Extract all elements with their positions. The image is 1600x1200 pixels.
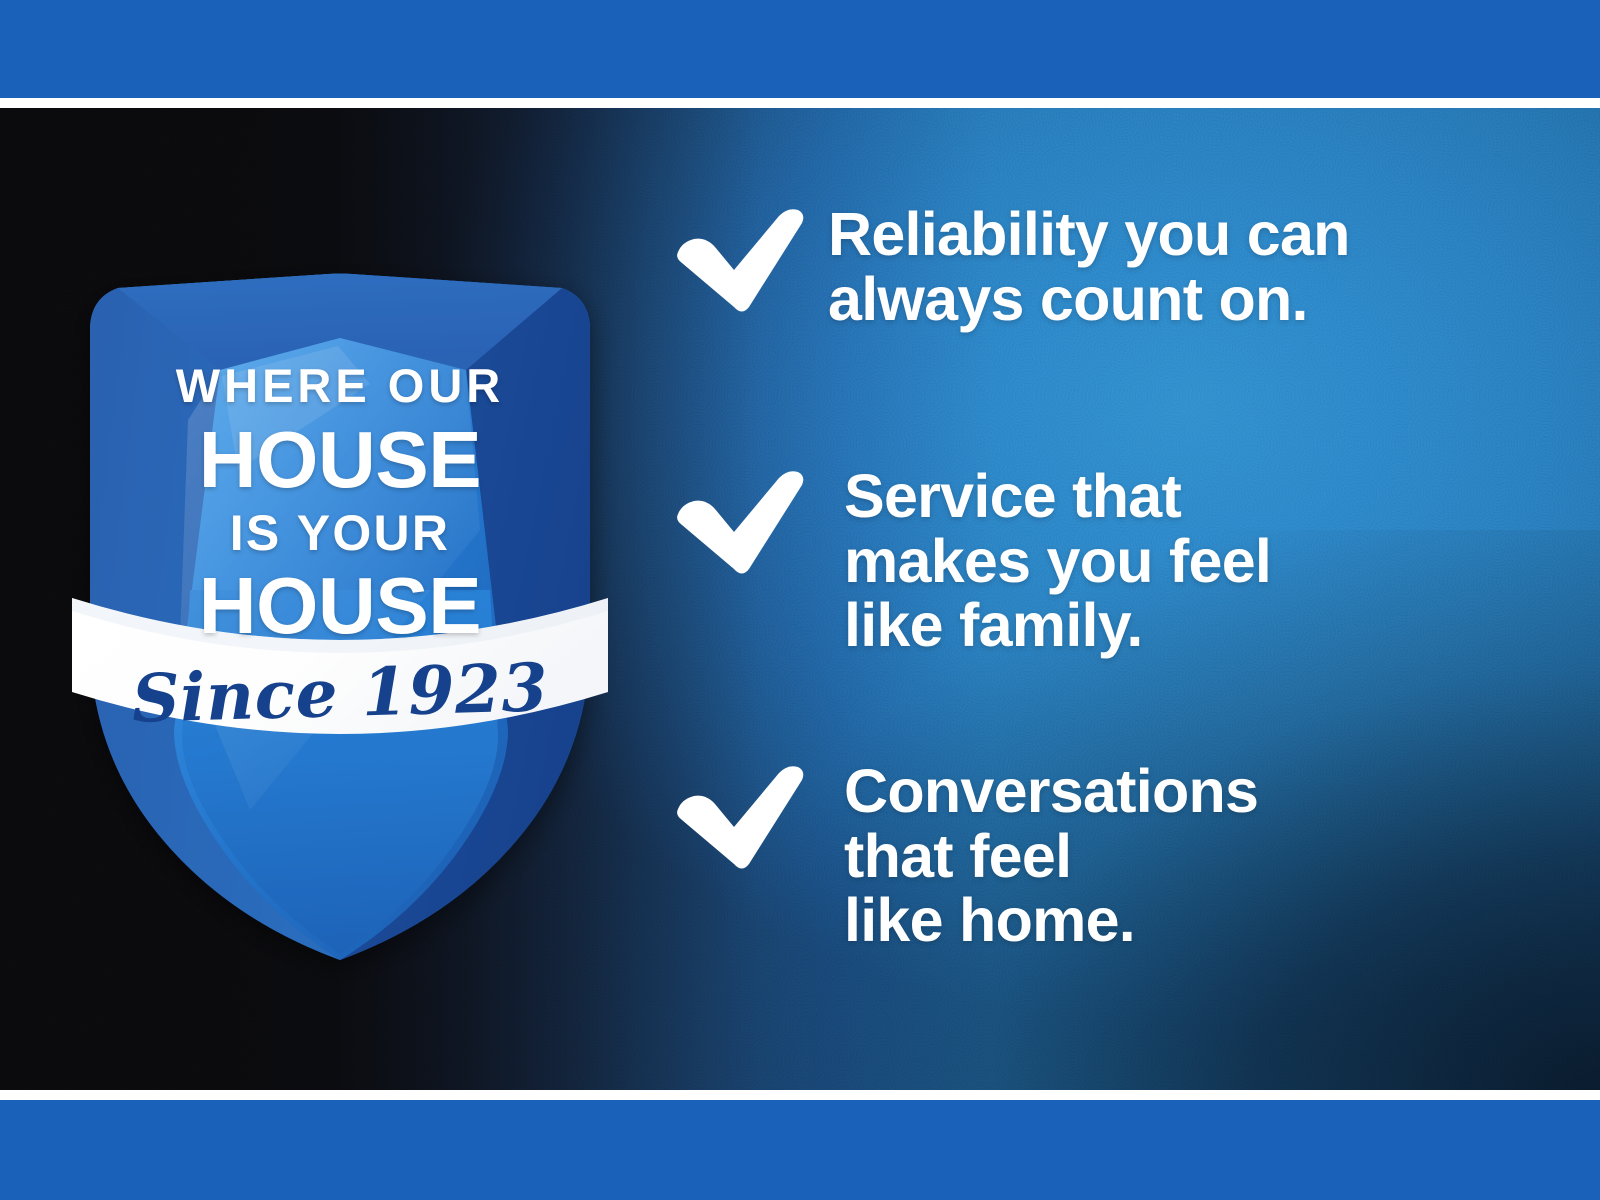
- list-item-text: Conversations that feel like home.: [844, 759, 1534, 953]
- top-white-divider: [0, 98, 1600, 108]
- badge-tagline-line3: IS YOUR: [70, 508, 610, 558]
- check-icon: [672, 763, 808, 873]
- badge-tagline-line2: HOUSE: [70, 420, 610, 500]
- bottom-brand-bar: [0, 1100, 1600, 1200]
- badge-tagline-line4: HOUSE: [70, 566, 610, 646]
- check-icon: [672, 468, 808, 578]
- top-brand-bar: [0, 0, 1600, 98]
- list-item-text: Reliability you can always count on.: [828, 202, 1528, 331]
- list-item-text: Service that makes you feel like family.: [844, 464, 1534, 658]
- shield-badge: WHERE OUR HOUSE IS YOUR HOUSE Since 1923: [70, 170, 610, 960]
- badge-tagline-line1: WHERE OUR: [70, 362, 610, 409]
- promo-graphic: WHERE OUR HOUSE IS YOUR HOUSE Since 1923…: [0, 0, 1600, 1200]
- ribbon-since-text: Since 1923: [69, 652, 611, 733]
- benefits-list: Reliability you can always count on. Ser…: [672, 108, 1532, 1090]
- bottom-white-divider: [0, 1090, 1600, 1100]
- check-icon: [672, 206, 808, 316]
